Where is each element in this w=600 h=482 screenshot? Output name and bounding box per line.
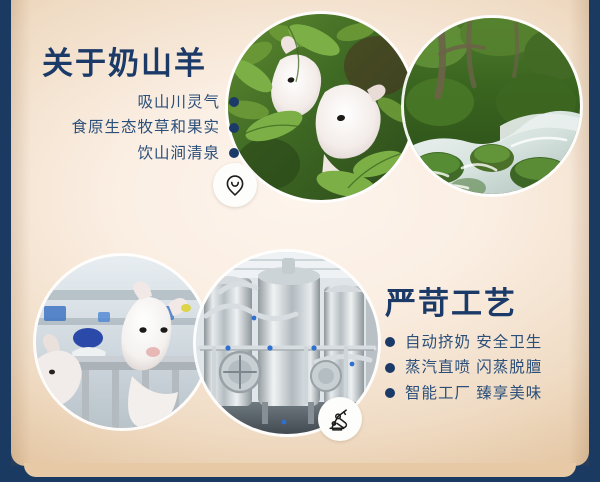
bullet-dot-icon: [385, 388, 395, 398]
card-bottom-ledge: [24, 463, 576, 477]
about-bullet-list: 吸山川灵气 食原生态牧草和果实 饮山涧清泉: [34, 90, 239, 167]
list-item: 饮山涧清泉: [34, 141, 239, 167]
about-heading: 关于奶山羊: [34, 48, 239, 81]
bullet-dot-icon: [229, 123, 239, 133]
list-item: 吸山川灵气: [34, 90, 239, 116]
craft-bullet-label: 自动挤奶 安全卫生: [405, 330, 542, 356]
robot-arm-icon: [318, 397, 362, 441]
smile-pin-icon: [213, 163, 257, 207]
craft-heading: 严苛工艺: [385, 288, 585, 321]
craft-bullet-list: 自动挤奶 安全卫生 蒸汽直喷 闪蒸脱膻 智能工厂 臻享美味: [385, 330, 585, 407]
list-item: 食原生态牧草和果实: [34, 115, 239, 141]
forest-stream-photo: [404, 18, 580, 194]
about-section-text: 关于奶山羊 吸山川灵气 食原生态牧草和果实 饮山涧清泉: [34, 48, 239, 166]
list-item: 自动挤奶 安全卫生: [385, 330, 585, 356]
poster-root: 关于奶山羊 吸山川灵气 食原生态牧草和果实 饮山涧清泉: [0, 0, 600, 482]
bullet-dot-icon: [385, 363, 395, 373]
bullet-dot-icon: [229, 97, 239, 107]
list-item: 蒸汽直喷 闪蒸脱膻: [385, 355, 585, 381]
about-bullet-label: 饮山涧清泉: [137, 141, 220, 167]
bullet-dot-icon: [385, 337, 395, 347]
list-item: 智能工厂 臻享美味: [385, 381, 585, 407]
about-bullet-label: 吸山川灵气: [137, 90, 220, 116]
craft-bullet-label: 蒸汽直喷 闪蒸脱膻: [405, 355, 542, 381]
about-bullet-label: 食原生态牧草和果实: [71, 115, 220, 141]
craft-section-text: 严苛工艺 自动挤奶 安全卫生 蒸汽直喷 闪蒸脱膻 智能工厂 臻享美味: [385, 288, 585, 406]
goats-milking-parlor-photo: [36, 256, 208, 428]
goats-eating-leaves-photo: [228, 14, 414, 200]
craft-bullet-label: 智能工厂 臻享美味: [405, 381, 542, 407]
bullet-dot-icon: [229, 148, 239, 158]
